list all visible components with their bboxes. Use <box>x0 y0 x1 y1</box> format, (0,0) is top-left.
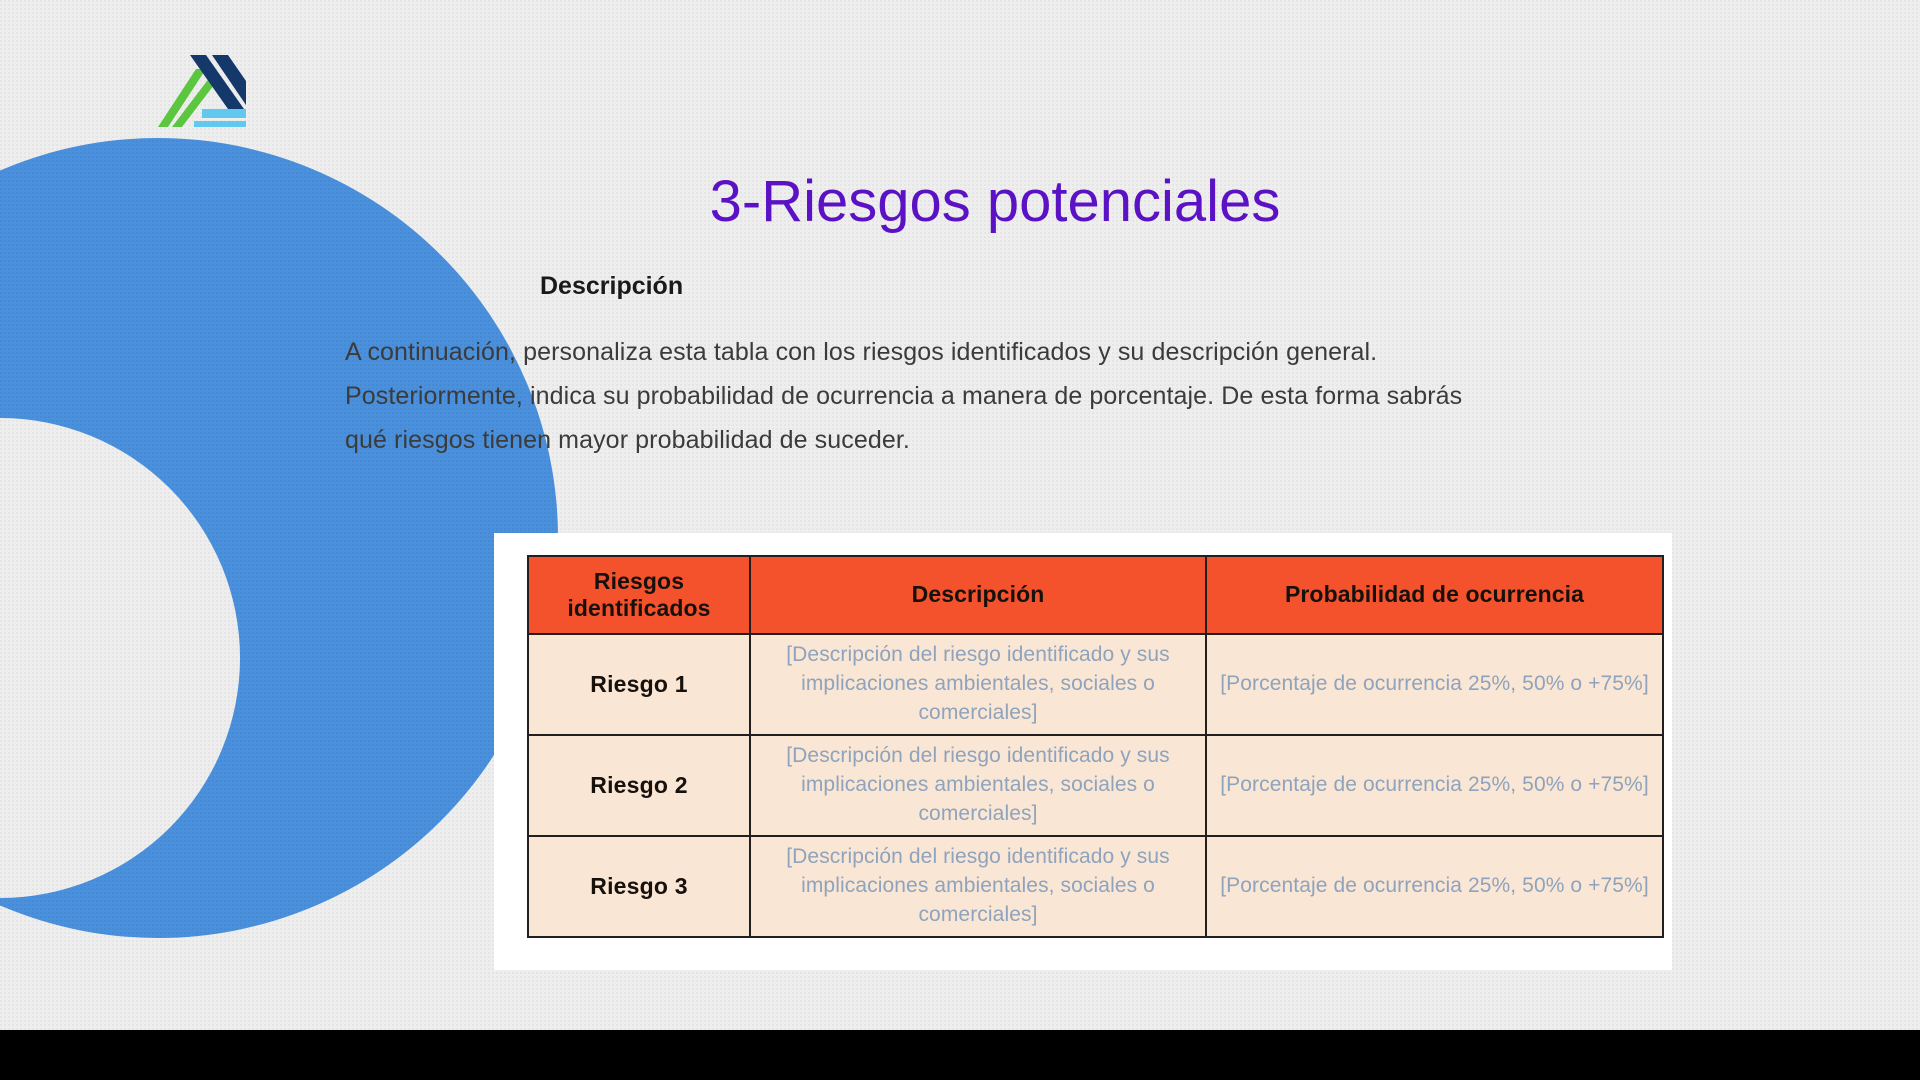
risk-table: Riesgos identificados Descripción Probab… <box>527 555 1664 938</box>
column-header-descripcion: Descripción <box>750 556 1206 634</box>
cell-risk-probability: [Porcentaje de ocurrencia 25%, 50% o +75… <box>1206 634 1663 735</box>
slide-canvas: 3-Riesgos potenciales Descripción A cont… <box>0 0 1920 1080</box>
cell-risk-name: Riesgo 1 <box>528 634 750 735</box>
section-subtitle: Descripción <box>540 272 683 301</box>
table-row: Riesgo 3 [Descripción del riesgo identif… <box>528 836 1663 937</box>
bottom-black-band <box>0 1030 1920 1080</box>
body-paragraph: A continuación, personaliza esta tabla c… <box>345 330 1505 462</box>
cell-risk-probability: [Porcentaje de ocurrencia 25%, 50% o +75… <box>1206 836 1663 937</box>
cell-risk-description: [Descripción del riesgo identificado y s… <box>750 836 1206 937</box>
table-header-row: Riesgos identificados Descripción Probab… <box>528 556 1663 634</box>
cell-risk-name: Riesgo 3 <box>528 836 750 937</box>
cell-risk-description: [Descripción del riesgo identificado y s… <box>750 634 1206 735</box>
column-header-probabilidad: Probabilidad de ocurrencia <box>1206 556 1663 634</box>
table-row: Riesgo 2 [Descripción del riesgo identif… <box>528 735 1663 836</box>
column-header-riesgos-identificados: Riesgos identificados <box>528 556 750 634</box>
risk-table-header: Riesgos identificados Descripción Probab… <box>528 556 1663 634</box>
page-title: 3-Riesgos potenciales <box>330 172 1660 233</box>
table-row: Riesgo 1 [Descripción del riesgo identif… <box>528 634 1663 735</box>
cell-risk-probability: [Porcentaje de ocurrencia 25%, 50% o +75… <box>1206 735 1663 836</box>
risk-table-body: Riesgo 1 [Descripción del riesgo identif… <box>528 634 1663 937</box>
company-logo <box>150 47 246 127</box>
cell-risk-description: [Descripción del riesgo identificado y s… <box>750 735 1206 836</box>
cell-risk-name: Riesgo 2 <box>528 735 750 836</box>
risk-table-frame: Riesgos identificados Descripción Probab… <box>494 533 1672 970</box>
